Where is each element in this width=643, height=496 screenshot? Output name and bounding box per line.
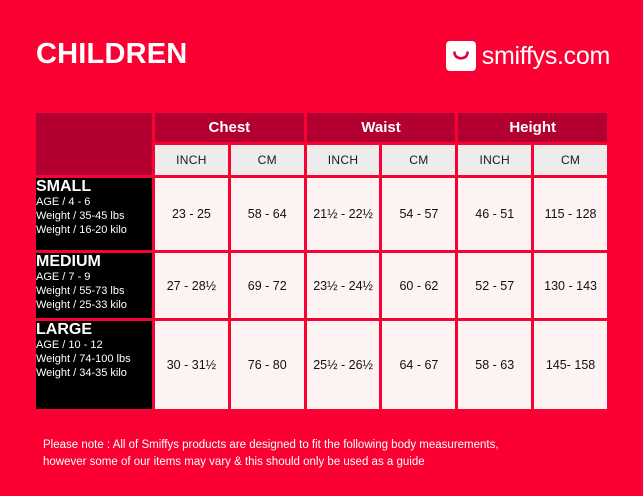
smile-icon (446, 41, 476, 71)
cell-chest-inch: 27 - 28½ (155, 253, 228, 318)
page-title: CHILDREN (36, 40, 187, 69)
cell-chest-cm: 58 - 64 (231, 178, 304, 250)
unit-header-waist-cm: CM (382, 145, 455, 175)
size-weight-kilo: Weight / 25-33 kilo (36, 299, 152, 313)
cell-chest-inch: 23 - 25 (155, 178, 228, 250)
cell-height-cm: 115 - 128 (534, 178, 607, 250)
cell-waist-inch: 25½ - 26½ (307, 321, 380, 409)
size-name: SMALL (36, 178, 152, 196)
size-label-large: LARGE AGE / 10 - 12 Weight / 74-100 lbs … (36, 321, 152, 409)
size-weight-lbs: Weight / 74-100 lbs (36, 353, 152, 367)
unit-header-height-inch: INCH (458, 145, 531, 175)
group-header-height: Height (458, 113, 607, 142)
footer-note-line-1: Please note : All of Smiffys products ar… (43, 437, 623, 454)
size-name: MEDIUM (36, 253, 152, 271)
brand-logo: smiffys.com (446, 41, 610, 71)
footer-note: Please note : All of Smiffys products ar… (43, 437, 623, 470)
cell-height-cm: 130 - 143 (534, 253, 607, 318)
cell-chest-cm: 69 - 72 (231, 253, 304, 318)
unit-header-height-cm: CM (534, 145, 607, 175)
cell-chest-cm: 76 - 80 (231, 321, 304, 409)
cell-waist-cm: 60 - 62 (382, 253, 455, 318)
size-age: AGE / 7 - 9 (36, 271, 152, 285)
size-age: AGE / 4 - 6 (36, 196, 152, 210)
size-name: LARGE (36, 321, 152, 339)
size-chart-table: Chest Waist Height INCH CM INCH CM INCH … (33, 110, 610, 412)
cell-waist-inch: 21½ - 22½ (307, 178, 380, 250)
size-age: AGE / 10 - 12 (36, 339, 152, 353)
size-weight-kilo: Weight / 16-20 kilo (36, 224, 152, 238)
table-corner-cell (36, 113, 152, 175)
cell-height-inch: 58 - 63 (458, 321, 531, 409)
cell-waist-cm: 64 - 67 (382, 321, 455, 409)
cell-height-inch: 52 - 57 (458, 253, 531, 318)
footer-note-line-2: however some of our items may vary & thi… (43, 454, 623, 471)
cell-waist-inch: 23½ - 24½ (307, 253, 380, 318)
unit-header-chest-cm: CM (231, 145, 304, 175)
page-header: CHILDREN smiffys.com (0, 0, 643, 108)
size-label-medium: MEDIUM AGE / 7 - 9 Weight / 55-73 lbs We… (36, 253, 152, 318)
size-weight-lbs: Weight / 35-45 lbs (36, 210, 152, 224)
unit-header-waist-inch: INCH (307, 145, 380, 175)
size-weight-kilo: Weight / 34-35 kilo (36, 367, 152, 381)
size-weight-lbs: Weight / 55-73 lbs (36, 285, 152, 299)
table-row: MEDIUM AGE / 7 - 9 Weight / 55-73 lbs We… (36, 253, 607, 318)
table-row: SMALL AGE / 4 - 6 Weight / 35-45 lbs Wei… (36, 178, 607, 250)
cell-height-cm: 145- 158 (534, 321, 607, 409)
size-label-small: SMALL AGE / 4 - 6 Weight / 35-45 lbs Wei… (36, 178, 152, 250)
cell-height-inch: 46 - 51 (458, 178, 531, 250)
cell-chest-inch: 30 - 31½ (155, 321, 228, 409)
cell-waist-cm: 54 - 57 (382, 178, 455, 250)
brand-name: smiffys.com (482, 44, 610, 69)
unit-header-chest-inch: INCH (155, 145, 228, 175)
table-header-groups: Chest Waist Height (36, 113, 607, 142)
group-header-waist: Waist (307, 113, 456, 142)
group-header-chest: Chest (155, 113, 304, 142)
table-row: LARGE AGE / 10 - 12 Weight / 74-100 lbs … (36, 321, 607, 409)
